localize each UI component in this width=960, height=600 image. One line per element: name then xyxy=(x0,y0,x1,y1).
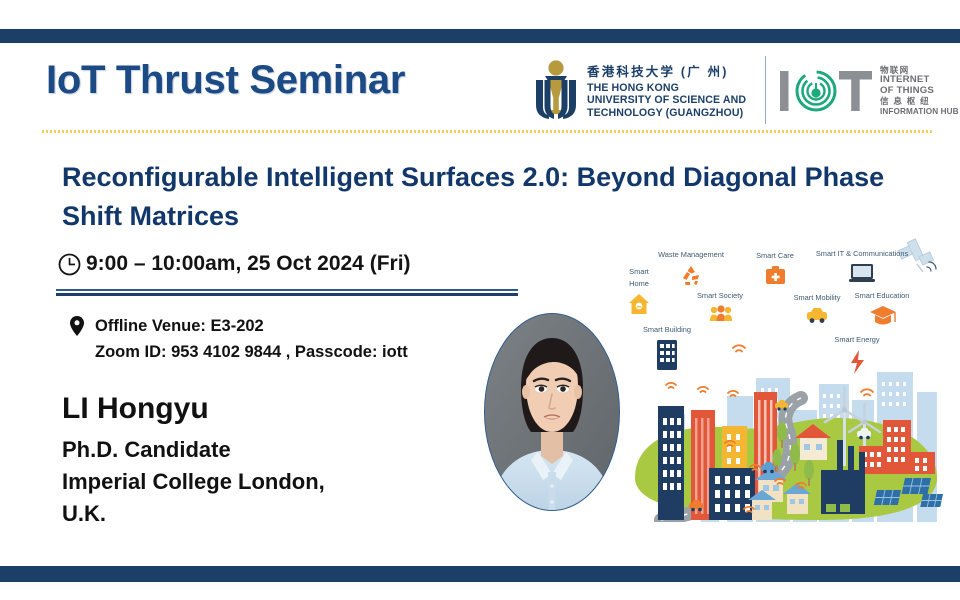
speaker-portrait xyxy=(484,313,620,511)
schedule-row: 9:00 – 10:00am, 25 Oct 2024 (Fri) xyxy=(58,252,411,276)
iot-logo-text: 物联网 INTERNET OF THINGS 信 息 枢 纽 INFORMATI… xyxy=(880,66,959,117)
seminar-poster: IoT Thrust Seminar 香港科技大学 (广 州) THE HONG… xyxy=(0,0,960,600)
label-waste-management: Waste Management xyxy=(658,250,724,259)
speaker-affiliation-line-2: U.K. xyxy=(62,498,325,530)
label-smart-it-communications: Smart IT & Communications xyxy=(816,249,909,258)
talk-title: Reconfigurable Intelligent Surfaces 2.0:… xyxy=(62,158,892,236)
hkust-emblem-icon xyxy=(533,59,579,123)
schedule-datetime: 9:00 – 10:00am, 25 Oct 2024 (Fri) xyxy=(86,252,411,276)
hkust-english-line-1: THE HONG KONG xyxy=(587,82,746,94)
iot-english-info-hub: INFORMATION HUB xyxy=(880,107,959,116)
speaker-title: Ph.D. Candidate xyxy=(62,434,325,466)
iot-chinese-bottom: 信 息 枢 纽 xyxy=(880,97,959,107)
label-smart-care: Smart Care xyxy=(756,251,794,260)
venue-lines: Offline Venue: E3-202 Zoom ID: 953 4102 … xyxy=(95,314,408,365)
speaker-name: LI Hongyu xyxy=(62,392,209,426)
venue-offline: Offline Venue: E3-202 xyxy=(95,314,408,340)
venue-zoom: Zoom ID: 953 4102 9844 , Passcode: iott xyxy=(95,340,408,366)
hkust-english-line-2: UNIVERSITY OF SCIENCE AND xyxy=(587,94,746,106)
label-smart-mobility: Smart Mobility xyxy=(794,293,841,302)
label-smart-building: Smart Building xyxy=(643,325,691,334)
iot-hub-logo: 物联网 INTERNET OF THINGS 信 息 枢 纽 INFORMATI… xyxy=(778,58,956,124)
page-title: IoT Thrust Seminar xyxy=(46,58,405,103)
hkust-chinese-name: 香港科技大学 (广 州) xyxy=(587,65,729,79)
hkust-english-line-3: TECHNOLOGY (GUANGZHOU) xyxy=(587,107,746,119)
top-accent-bar xyxy=(0,29,960,43)
label-smart-home-line1: Smart xyxy=(629,267,649,276)
schedule-divider xyxy=(56,289,518,296)
smart-city-iot-illustration: .lbl { font-family: "Liberation Sans", s… xyxy=(605,232,957,522)
hkust-logo-text: 香港科技大学 (广 州) THE HONG KONG UNIVERSITY OF… xyxy=(587,63,746,119)
hkust-logo: 香港科技大学 (广 州) THE HONG KONG UNIVERSITY OF… xyxy=(533,53,755,129)
label-smart-education: Smart Education xyxy=(855,291,910,300)
label-smart-energy: Smart Energy xyxy=(834,335,879,344)
label-smart-society: Smart Society xyxy=(697,291,743,300)
speaker-affiliation-line-1: Imperial College London, xyxy=(62,466,325,498)
location-pin-icon xyxy=(70,316,84,336)
clock-icon xyxy=(58,253,81,276)
speaker-affiliation: Ph.D. Candidate Imperial College London,… xyxy=(62,434,325,530)
iot-wordmark-icon xyxy=(778,68,874,114)
bottom-accent-bar xyxy=(0,566,960,582)
venue-block: Offline Venue: E3-202 Zoom ID: 953 4102 … xyxy=(70,314,408,365)
logo-divider xyxy=(765,56,766,124)
label-smart-home-line2: Home xyxy=(629,279,649,288)
gold-dotted-divider xyxy=(42,130,932,133)
